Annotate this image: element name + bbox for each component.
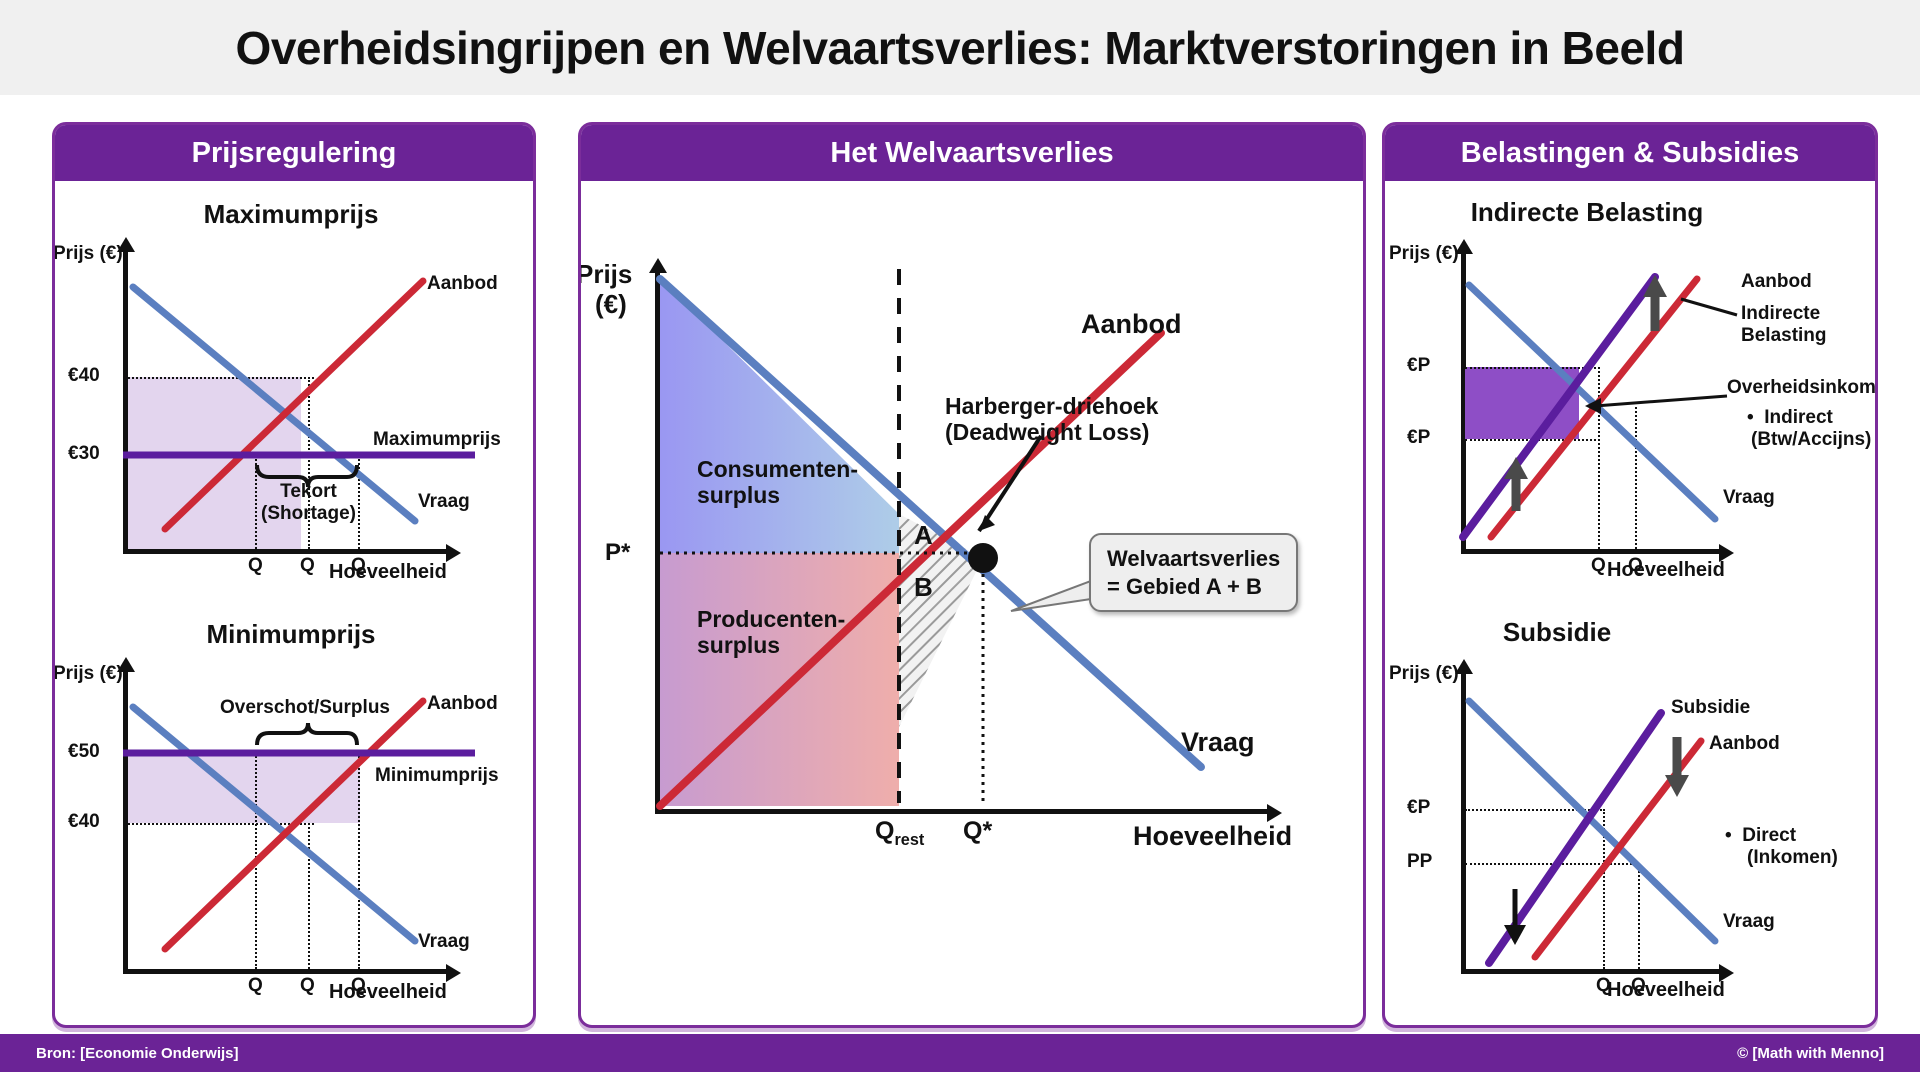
curves-maximumprijs [55,181,527,601]
ytick-label-pstar: P* [605,539,630,567]
supply-curve-label: Aanbod [1709,733,1780,755]
tax-curve-label: Indirecte Belasting [1741,303,1827,347]
bullet-direct-label: Direct [1742,825,1796,846]
panel-welvaartsverlies-body: Prijs (€) Hoeveelheid [581,181,1363,1025]
xtick-label-qstar: Q* [963,817,992,846]
curves-minimumprijs [55,601,527,1021]
ytick-label-30: €30 [68,443,100,465]
annotation-harberger-line1: Harberger-driehoek [945,393,1158,419]
annotation-overheidsinkomsten-title: Overheidsinkomsten [1727,377,1878,399]
ytick-label-40: €40 [68,365,100,387]
demand-curve-label: Vraag [418,491,470,513]
xtick-label-q2: Q [1628,555,1643,577]
demand-curve-label: Vraag [1181,727,1255,758]
annotation-harberger-line2: (Deadweight Loss) [945,419,1158,445]
supply-curve-label: Aanbod [427,693,498,715]
panel-prijsregulering: Prijsregulering Maximumprijs Prijs (€) H… [52,122,536,1028]
xtick-label-q3: Q [351,555,366,577]
brace-overschot-icon [257,723,357,745]
panel-belastingen-subsidies: Belastingen & Subsidies Indirecte Belast… [1382,122,1878,1028]
annotation-overheidsinkomsten-bullet: • Indirect (Btw/Accijns) [1747,407,1871,451]
callout-line2: = Gebied A + B [1107,573,1280,601]
tax-curve-label-line2: Belasting [1741,325,1827,347]
panel-welvaartsverlies-title: Het Welvaartsverlies [581,125,1363,181]
panel-belastingen-subsidies-body: Indirecte Belasting Prijs (€) Hoeveelhei… [1385,181,1875,1025]
equilibrium-point-marker [968,543,998,573]
page-footer: Bron: [Economie Onderwijs] © [Math with … [0,1034,1920,1072]
chart-subsidie: Subsidie Prijs (€) Hoeveelheid [1385,601,1869,1021]
ytick-label-50: €50 [68,741,100,763]
xtick-label-q1: Q [1596,975,1611,997]
callout-tail-icon [1011,581,1091,611]
annotation-harberger: Harberger-driehoek (Deadweight Loss) [945,393,1158,446]
callout-line1: Welvaartsverlies [1107,545,1280,573]
panel-prijsregulering-body: Maximumprijs Prijs (€) Hoeveelheid [55,181,533,1025]
ytick-label-p-high: €P [1407,797,1430,819]
annotation-tekort: Tekort (Shortage) [261,481,356,525]
label-consumer-surplus-line2: surplus [697,482,858,508]
annotation-arrow-harberger-icon [979,436,1041,531]
supply-curve-label: Aanbod [427,273,498,295]
footer-source: Bron: [Economie Onderwijs] [36,1045,239,1062]
annotation-overschot: Overschot/Surplus [220,697,390,719]
bullet-indirect: • Indirect [1747,407,1871,429]
demand-curve-label: Vraag [1723,487,1775,509]
xtick-label-q1: Q [1591,555,1606,577]
bullet-indirect-detail: (Btw/Accijns) [1751,429,1871,451]
ytick-label-40: €40 [68,811,100,833]
page-title: Overheidsingrijpen en Welvaartsverlies: … [236,21,1685,75]
label-consumer-surplus-line1: Consumenten- [697,456,858,482]
xtick-label-q2: Q [300,975,315,997]
bullet-direct: • Direct [1725,825,1838,847]
xtick-label-qrest: Qrest [875,817,924,850]
page-header: Overheidsingrijpen en Welvaartsverlies: … [0,0,1920,95]
annotation-tekort-line2: (Shortage) [261,503,356,525]
label-producer-surplus-line2: surplus [697,632,845,658]
callout-welvaartsverlies: Welvaartsverlies = Gebied A + B [1089,533,1298,612]
label-dwl-b: B [914,573,933,603]
demand-curve-label: Vraag [418,931,470,953]
price-ceiling-label: Maximumprijs [373,429,501,451]
label-producer-surplus-line1: Producenten- [697,606,845,632]
chart-indirecte-belasting: Indirecte Belasting Prijs (€) Hoeveelhei… [1385,181,1869,601]
leader-line-overheidsinkomsten-icon [1595,396,1727,406]
chart-minimumprijs: Minimumprijs Prijs (€) Hoeveelheid €50 €… [55,601,527,1021]
demand-curve [133,707,415,941]
bullet-indirect-label: Indirect [1764,407,1833,428]
subsidy-curve-label: Subsidie [1671,697,1750,719]
ytick-label-p-low: PP [1407,851,1432,873]
annotation-arrowhead-harberger-icon [979,515,995,531]
supply-curve-label: Aanbod [1741,271,1812,293]
chart-welvaartsverlies: Prijs (€) Hoeveelheid [581,181,1357,1021]
supply-curve-label: Aanbod [1081,309,1182,340]
panel-belastingen-subsidies-title: Belastingen & Subsidies [1385,125,1875,181]
leader-line-indirecte-belasting-icon [1681,299,1737,315]
price-floor-label: Minimumprijs [375,765,499,787]
xtick-label-q1: Q [248,555,263,577]
demand-curve-label: Vraag [1723,911,1775,933]
xtick-label-qrest-sub: rest [894,831,924,849]
annotation-subsidie-bullet: • Direct (Inkomen) [1725,825,1838,869]
label-producer-surplus: Producenten- surplus [697,606,845,659]
panel-welvaartsverlies: Het Welvaartsverlies Prijs (€) Hoeveelhe… [578,122,1366,1028]
panel-prijsregulering-title: Prijsregulering [55,125,533,181]
tax-curve-label-line1: Indirecte [1741,303,1827,325]
xtick-label-qrest-base: Q [875,817,894,845]
tax-shifted-supply-curve [1463,277,1655,537]
annotation-tekort-line1: Tekort [261,481,356,503]
label-dwl-a: A [914,521,933,551]
xtick-label-q3: Q [351,975,366,997]
ytick-label-p-producer: €P [1407,427,1430,449]
xtick-label-q2: Q [300,555,315,577]
label-consumer-surplus: Consumenten- surplus [697,456,858,509]
xtick-label-q1: Q [248,975,263,997]
chart-maximumprijs: Maximumprijs Prijs (€) Hoeveelheid [55,181,527,601]
consumer-surplus-area [660,279,899,553]
curves-subsidie [1385,601,1869,1021]
xtick-label-q2: Q [1631,975,1646,997]
ytick-label-p-consumer: €P [1407,355,1430,377]
bullet-direct-detail: (Inkomen) [1747,847,1838,869]
footer-credit: © [Math with Menno] [1737,1045,1884,1062]
